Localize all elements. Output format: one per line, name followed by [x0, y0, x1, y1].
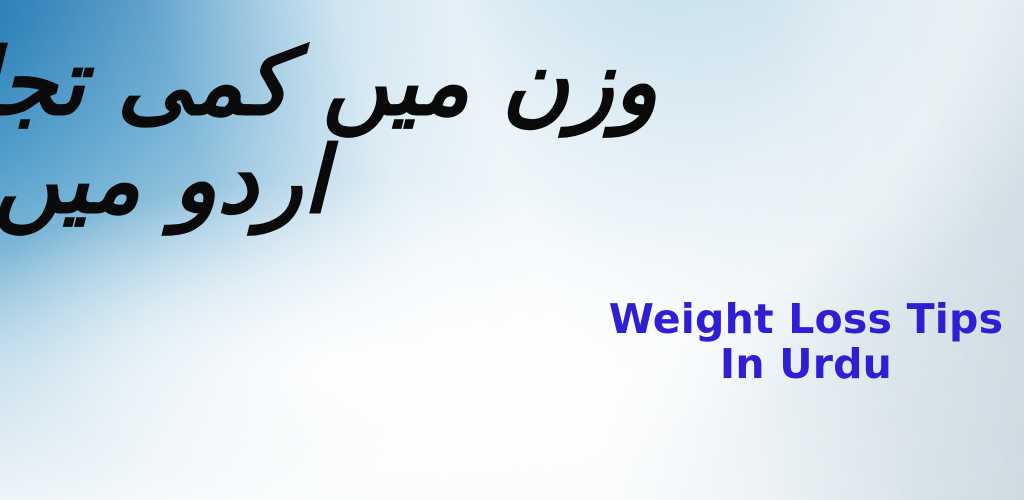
banner-canvas: وزن میں کمی تجاویز اردو میں Weight Loss …: [0, 0, 1024, 500]
urdu-headline-line-1: وزن میں کمی تجاویز: [0, 36, 658, 130]
english-headline: Weight Loss Tips In Urdu: [592, 298, 1020, 387]
urdu-headline: وزن میں کمی تجاویز اردو میں: [0, 36, 680, 228]
english-headline-line-2: In Urdu: [592, 343, 1020, 386]
urdu-headline-line-2: اردو میں: [0, 134, 328, 228]
english-headline-line-1: Weight Loss Tips: [592, 298, 1020, 341]
